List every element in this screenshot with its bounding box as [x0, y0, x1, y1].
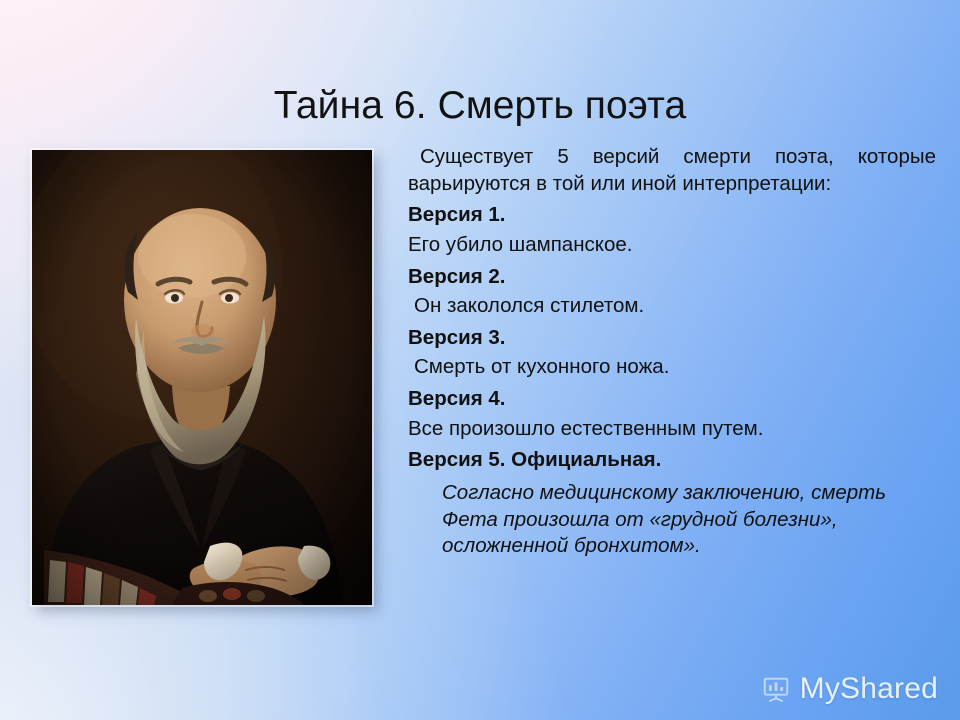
portrait-image	[32, 150, 372, 605]
version-1-heading: Версия 1.	[408, 202, 936, 229]
closing-paragraph: Согласно медицинскому заключению, смерть…	[408, 480, 936, 560]
version-3-body: Смерть от кухонного ножа.	[408, 354, 936, 381]
version-3-heading: Версия 3.	[408, 325, 936, 352]
version-1-body: Его убило шампанское.	[408, 232, 936, 259]
version-2-heading: Версия 2.	[408, 264, 936, 291]
version-5-heading: Версия 5. Официальная.	[408, 447, 936, 474]
watermark: MyShared	[761, 672, 938, 706]
portrait-illustration	[32, 150, 372, 605]
intro-paragraph: Существует 5 версий смерти поэта, которы…	[408, 144, 936, 197]
content-column: Существует 5 версий смерти поэта, которы…	[408, 144, 936, 560]
page-title: Тайна 6. Смерть поэта	[0, 84, 960, 129]
slide: Тайна 6. Смерть поэта	[0, 0, 960, 720]
presentation-board-icon	[761, 674, 791, 704]
watermark-label: MyShared	[800, 672, 938, 706]
version-4-heading: Версия 4.	[408, 386, 936, 413]
version-2-body: Он закололся стилетом.	[408, 293, 936, 320]
version-4-body: Все произошло естественным путем.	[408, 416, 936, 443]
